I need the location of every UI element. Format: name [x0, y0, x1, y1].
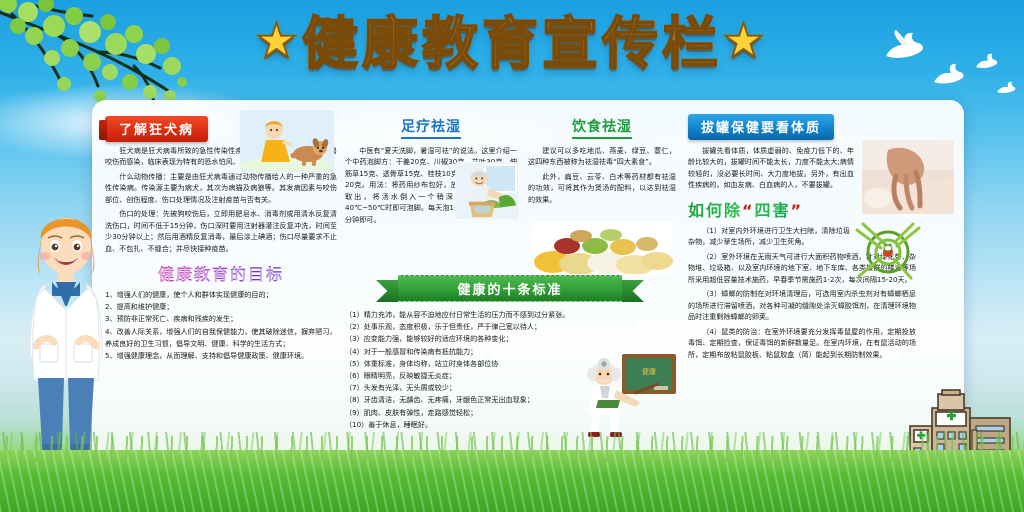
rabies-paragraph-2: 什么动物传播：主要是由狂犬病毒通过动物传播给人的一种严重的急性传染病。传染源主要…: [105, 171, 337, 205]
diet-paragraph-2: 此外，扁豆、云苓、白术等药材都有祛湿的功效，可将其作为煲汤的配料，以达到祛湿的效…: [528, 171, 676, 205]
blackboard-text: 健康: [642, 367, 656, 376]
goals-list: 1、增强人们的健康，使个人和群体实现健康的目的； 2、提高和维护健康； 3、预防…: [105, 289, 337, 361]
title-text: 健康教育宣传栏: [302, 12, 722, 77]
cupping-paragraph-1: 拔罐先看体质，体质虚弱的、免疫力低下的、年龄比较大的，拔罐时间不能太长，力度不能…: [688, 145, 854, 191]
footbath-heading: 足疗祛湿: [401, 116, 461, 139]
goals-item: 1、增强人们的健康，使个人和群体实现健康的目的；: [105, 289, 337, 301]
standards-heading: 健康的十条标准: [398, 275, 622, 302]
star-right-icon: ★: [722, 13, 769, 69]
rabies-paragraph-3: 伤口的处理：先被狗咬伤后，立即用肥皂水、消毒剂或用清水反复清洗伤口，时间不低于1…: [105, 208, 337, 254]
standards-ribbon: 健康的十条标准: [376, 275, 644, 302]
rabies-heading: 了解狂犬病: [105, 116, 208, 142]
grains-and-beans-photo: [533, 222, 673, 274]
professor-with-blackboard-illustration: 健康: [578, 352, 678, 438]
foot-bath-photo: [455, 162, 519, 220]
pest-heading: 如何除“四害”: [688, 201, 803, 220]
cupping-heading: 拔罐保健要看体质: [688, 114, 834, 140]
pest-item-3: （3）蟑螂的防制在对环境清理后，可选用室内杀虫剂对有蟑螂栖息的场所进行滞留喷洒，…: [688, 288, 916, 322]
goals-item: 3、预防非正常死亡、疾病和残疾的发生；: [105, 313, 337, 325]
goals-item: 4、改善人际关系，增强人们的自我保健能力，使其破除迷信，摒弃陋习，养成良好的卫生…: [105, 326, 337, 350]
pest-heading-quote-open: “: [742, 201, 755, 220]
standards-item: （2）处事乐观，态度积极，乐于但责任，严于律己宽以待人；: [345, 321, 675, 333]
standards-item: （3）应变能力强，能够较好的适应环境的各种变化；: [345, 333, 675, 345]
page-title: ★健康教育宣传栏★: [255, 16, 769, 75]
star-left-icon: ★: [255, 13, 302, 69]
goals-item: 2、提高和维护健康；: [105, 301, 337, 313]
pest-item-1: （1）对室内外环境进行卫生大扫除，清除垃圾杂物，减少孳生场所，减少卫生死角。: [688, 225, 850, 248]
standards-item: （1）精力充沛，能从容不迫地应付日常生活的压力而不感到过分紧张。: [345, 309, 675, 321]
diet-paragraph-1: 建议可以多吃地瓜、燕麦、绿豆、薏仁，这四种东西被称为祛湿祛毒“四大素食”。: [528, 145, 676, 168]
goals-heading: 健康教育的目标: [158, 265, 284, 284]
grass-strip: [0, 450, 1024, 512]
health-education-poster: ★健康教育宣传栏★ 了解狂犬病 狂犬病是狂犬病毒所致的急性传染性疾病，人兽共患，…: [0, 0, 1024, 512]
pest-heading-pre: 如何除: [688, 201, 742, 220]
column-diet: 饮食祛湿 建议可以多吃地瓜、燕麦、绿豆、薏仁，这四种东西被称为祛湿祛毒“四大素食…: [528, 116, 676, 205]
poster-title-area: ★健康教育宣传栏★: [0, 16, 1024, 75]
goals-item: 5、增强健康理念，从而理解、支持和倡导健康政策、健康环境。: [105, 350, 337, 362]
flying-dove: [995, 80, 1017, 96]
mosquito-fly-rat-target-icon: [855, 222, 921, 284]
pest-heading-mid: 四害: [755, 201, 791, 220]
pest-heading-quote-close: ”: [791, 201, 804, 220]
cupping-therapy-photo: [862, 140, 954, 214]
diet-heading: 饮食祛湿: [572, 116, 632, 139]
pest-item-4: （4）鼠类的防治：在室外环境要充分发挥毒鼠屋的作用，定期投放毒饵、定期捡查，保证…: [688, 326, 916, 360]
child-and-dog-illustration: [240, 110, 334, 172]
